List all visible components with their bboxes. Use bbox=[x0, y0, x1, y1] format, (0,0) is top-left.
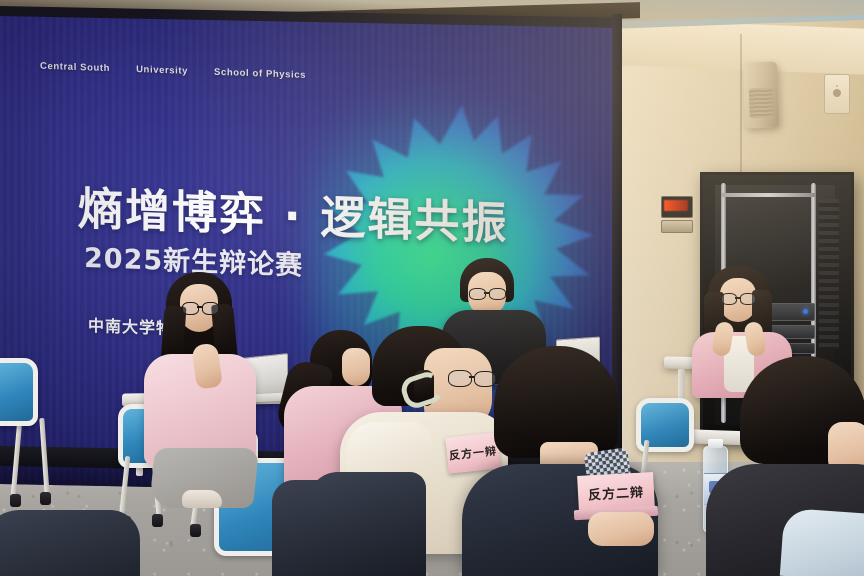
rack-vent bbox=[819, 199, 839, 349]
chair-foot bbox=[152, 514, 163, 527]
panel-knob-icon[interactable] bbox=[833, 89, 841, 97]
wall-control-panel[interactable] bbox=[824, 74, 850, 114]
hood-fold bbox=[346, 422, 432, 476]
glasses-bridge bbox=[484, 292, 489, 294]
hands-holding-placard bbox=[588, 512, 654, 546]
photo-scene: Central South University School of Physi… bbox=[0, 0, 864, 576]
glasses-lens bbox=[721, 293, 737, 305]
chair-backrest bbox=[0, 358, 38, 426]
glasses-bridge bbox=[735, 297, 740, 299]
glasses-bridge bbox=[197, 306, 202, 308]
glasses-icon bbox=[721, 293, 755, 304]
status-led-icon bbox=[803, 309, 808, 314]
glasses-lens bbox=[489, 288, 506, 300]
wall-plate bbox=[661, 220, 693, 233]
glasses-icon bbox=[182, 302, 218, 314]
rack-crossbar bbox=[721, 193, 816, 197]
glasses-lens bbox=[740, 293, 756, 305]
glasses-lens bbox=[469, 288, 486, 300]
shoe bbox=[182, 490, 222, 508]
torso-dark-sleeve bbox=[308, 472, 426, 576]
chair-foot bbox=[10, 494, 21, 507]
person-audience-right-back bbox=[724, 356, 864, 576]
led-display bbox=[661, 196, 693, 218]
person-panelist-left bbox=[138, 272, 288, 502]
chair-foot bbox=[40, 492, 51, 505]
bottle-cap bbox=[708, 439, 723, 448]
glasses-lens bbox=[202, 302, 219, 315]
chair-foot bbox=[190, 524, 201, 537]
glasses-lens bbox=[182, 302, 199, 315]
collar-light-blue bbox=[780, 508, 864, 576]
led-display-lit bbox=[664, 200, 688, 211]
speaker-grille bbox=[749, 88, 774, 119]
wall-speaker-icon bbox=[743, 61, 779, 128]
person-audience-left-edge bbox=[0, 510, 140, 576]
glasses-icon bbox=[469, 288, 505, 299]
placard-text: 反方二辩 bbox=[588, 481, 645, 503]
